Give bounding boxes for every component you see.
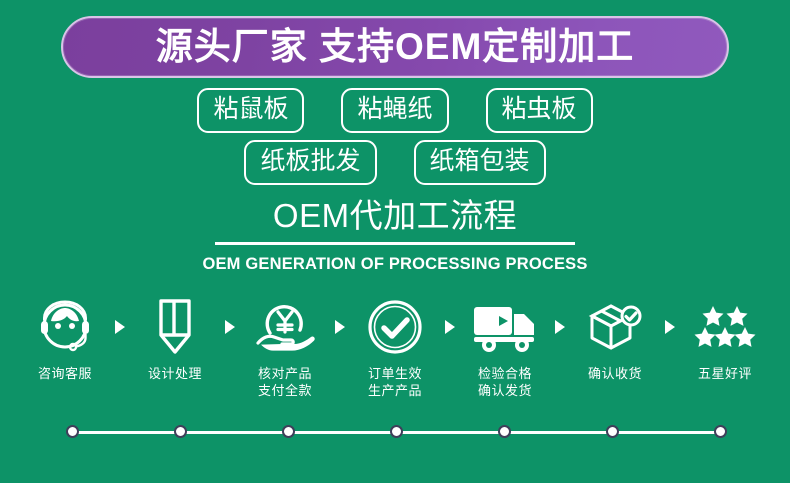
title-divider xyxy=(215,242,575,245)
timeline-dot xyxy=(174,425,187,438)
arrow-right-triangle-icon xyxy=(219,296,241,358)
process-step-label: 设计处理 xyxy=(148,366,202,383)
arrow-right-triangle-icon xyxy=(329,296,351,358)
process-step-label: 五星好评 xyxy=(698,366,752,383)
process-step-label: 订单生效 生产产品 xyxy=(368,366,422,400)
check-circle-icon xyxy=(360,296,430,358)
process-steps: 咨询客服 设计处理 xyxy=(0,296,790,400)
process-step-label: 咨询客服 xyxy=(38,366,92,383)
timeline-dot xyxy=(66,425,79,438)
arrow-right-triangle-icon xyxy=(109,296,131,358)
process-step: 核对产品 支付全款 xyxy=(241,296,329,400)
tag-pill[interactable]: 粘鼠板 xyxy=(197,88,304,133)
process-step: 咨询客服 xyxy=(21,296,109,383)
process-step-label: 确认收货 xyxy=(588,366,642,383)
timeline-dot xyxy=(390,425,403,438)
five-stars-icon xyxy=(690,296,760,358)
timeline-dot xyxy=(714,425,727,438)
tag-pill[interactable]: 纸箱包装 xyxy=(414,140,546,185)
process-step-label: 核对产品 支付全款 xyxy=(258,366,312,400)
section-title-cn: OEM代加工流程 xyxy=(0,198,790,234)
process-step: 设计处理 xyxy=(131,296,219,383)
section-title-block: OEM代加工流程 OEM GENERATION OF PROCESSING PR… xyxy=(0,198,790,274)
hand-yuan-coin-icon xyxy=(250,296,320,358)
tag-pill[interactable]: 粘虫板 xyxy=(486,88,593,133)
headset-support-icon xyxy=(30,296,100,358)
tag-pill[interactable]: 纸板批发 xyxy=(244,140,376,185)
delivery-truck-icon xyxy=(470,296,540,358)
header-banner-wrap: 源头厂家 支持OEM定制加工 xyxy=(0,16,790,78)
timeline-dot xyxy=(498,425,511,438)
process-step: 订单生效 生产产品 xyxy=(351,296,439,400)
timeline-dot xyxy=(282,425,295,438)
arrow-right-triangle-icon xyxy=(659,296,681,358)
arrow-right-triangle-icon xyxy=(439,296,461,358)
pencil-icon xyxy=(140,296,210,358)
tag-row-2: 纸板批发 纸箱包装 xyxy=(0,140,790,185)
header-banner-text: 源头厂家 支持OEM定制加工 xyxy=(156,28,635,65)
process-step-label: 检验合格 确认发货 xyxy=(478,366,532,400)
timeline-dot xyxy=(606,425,619,438)
process-step: 确认收货 xyxy=(571,296,659,383)
tag-row-1: 粘鼠板 粘蝇纸 粘虫板 xyxy=(0,88,790,133)
section-title-en: OEM GENERATION OF PROCESSING PROCESS xyxy=(12,254,778,274)
process-timeline xyxy=(0,424,790,440)
promo-banner-page: 源头厂家 支持OEM定制加工 粘鼠板 粘蝇纸 粘虫板 纸板批发 纸箱包装 OEM… xyxy=(0,0,790,483)
process-step: 五星好评 xyxy=(681,296,769,383)
tag-pill[interactable]: 粘蝇纸 xyxy=(341,88,448,133)
process-step: 检验合格 确认发货 xyxy=(461,296,549,400)
header-banner: 源头厂家 支持OEM定制加工 xyxy=(61,16,729,78)
arrow-right-triangle-icon xyxy=(549,296,571,358)
box-check-icon xyxy=(580,296,650,358)
